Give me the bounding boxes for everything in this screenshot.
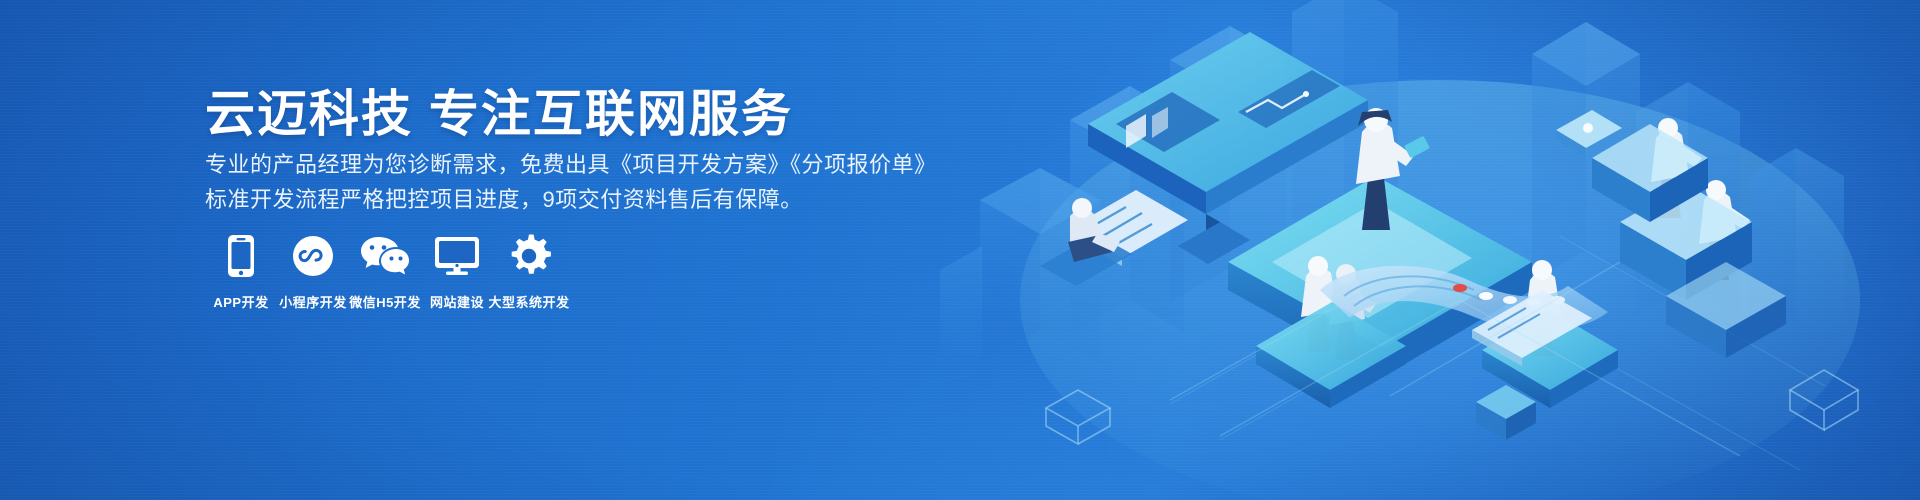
subtitle-line-2: 标准开发流程严格把控项目进度，9项交付资料售后有保障。: [205, 182, 803, 214]
illustration-area: [920, 0, 1920, 500]
service-label: 网站建设: [430, 292, 484, 311]
mobile-phone-icon: [227, 232, 255, 280]
service-list: APP开发 小程序开发: [205, 232, 565, 311]
mini-program-icon: [292, 232, 334, 280]
hero-banner: 云迈科技 专注互联网服务 专业的产品经理为您诊断需求，免费出具《项目开发方案》《…: [0, 0, 1920, 500]
service-label: 大型系统开发: [489, 292, 570, 311]
service-label: APP开发: [213, 292, 268, 311]
service-item-wechat[interactable]: 微信H5开发: [349, 232, 421, 311]
service-item-miniprogram[interactable]: 小程序开发: [277, 232, 349, 311]
service-item-system[interactable]: 大型系统开发: [493, 232, 565, 311]
gear-icon: [507, 232, 551, 280]
page-title: 云迈科技 专注互联网服务: [205, 74, 793, 146]
monitor-icon: [434, 232, 480, 280]
service-label: 小程序开发: [279, 292, 347, 311]
banner-content: 云迈科技 专注互联网服务 专业的产品经理为您诊断需求，免费出具《项目开发方案》《…: [205, 0, 965, 500]
wechat-icon: [360, 232, 410, 280]
service-item-website[interactable]: 网站建设: [421, 232, 493, 311]
service-item-app[interactable]: APP开发: [205, 232, 277, 311]
subtitle-line-1: 专业的产品经理为您诊断需求，免费出具《项目开发方案》《分项报价单》: [205, 147, 937, 179]
service-label: 微信H5开发: [349, 292, 421, 311]
